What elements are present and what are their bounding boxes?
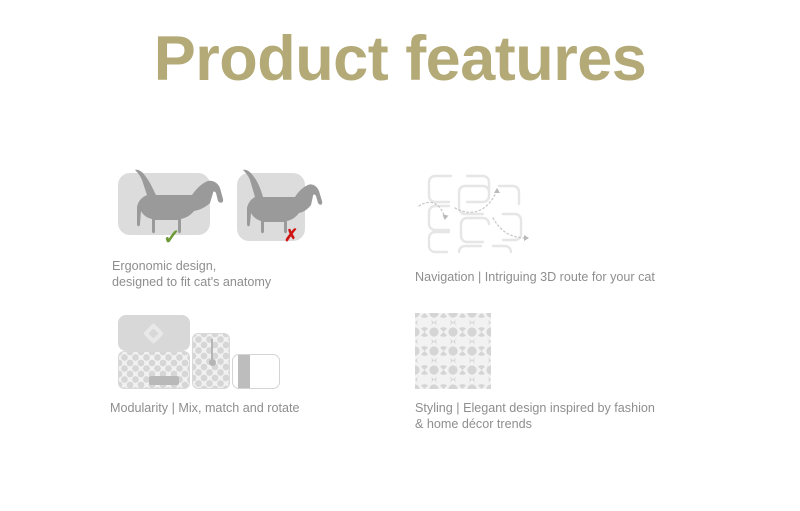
feature-modularity: Modularity | Mix, match and rotate	[110, 313, 410, 417]
module-plain-block	[118, 315, 190, 351]
quatrefoil-pattern-icon	[415, 313, 491, 389]
feature-caption-modularity: Modularity | Mix, match and rotate	[110, 401, 410, 417]
feature-styling: Styling | Elegant design inspired by fas…	[415, 313, 715, 432]
page-title: Product features	[0, 26, 800, 92]
cat-silhouette-cramped-icon	[234, 167, 324, 247]
diamond-emblem-icon	[143, 323, 164, 344]
navigation-route-grid-icon	[415, 168, 545, 260]
modular-blocks-icon	[110, 313, 270, 391]
feature-caption-ergonomic: Ergonomic design, designed to fit cat's …	[112, 259, 420, 290]
cross-icon: ✗	[284, 227, 298, 244]
feature-caption-styling: Styling | Elegant design inspired by fas…	[415, 401, 715, 432]
module-bar	[149, 376, 179, 385]
feature-caption-navigation: Navigation | Intriguing 3D route for you…	[415, 270, 715, 286]
checkmark-icon: ✓	[163, 227, 181, 248]
two-cats-comparison-icon: ✓ ✗	[110, 165, 325, 253]
module-tall-lattice-block	[192, 333, 230, 389]
module-white-block	[232, 354, 280, 389]
slide-canvas: Product features ✓ ✗ Ergonomic design, d…	[0, 0, 800, 511]
module-stem-icon	[211, 339, 213, 361]
feature-navigation: Navigation | Intriguing 3D route for you…	[415, 168, 715, 286]
feature-ergonomic: ✓ ✗ Ergonomic design, designed to fit ca…	[110, 165, 420, 290]
features-grid: ✓ ✗ Ergonomic design, designed to fit ca…	[110, 165, 710, 465]
module-lattice-block	[118, 351, 190, 389]
module-band	[238, 355, 250, 388]
